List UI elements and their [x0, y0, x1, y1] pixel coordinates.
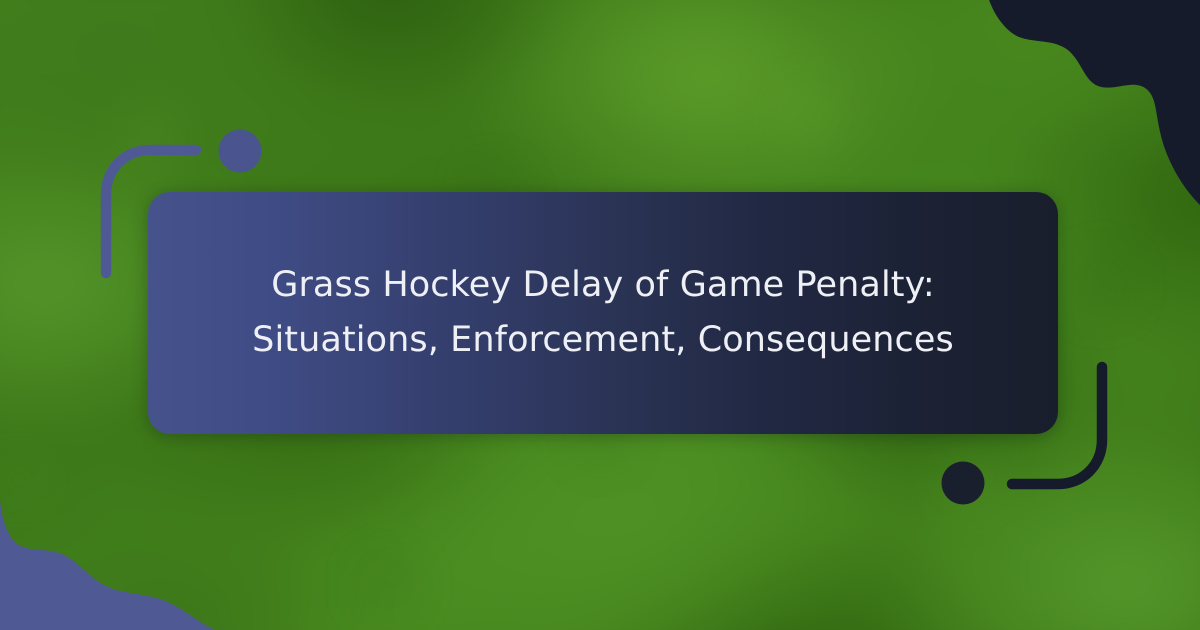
title-line-2: Situations, Enforcement, Consequences — [252, 313, 954, 368]
og-card-canvas: Grass Hockey Delay of Game Penalty: Situ… — [0, 0, 1200, 630]
title-line-1: Grass Hockey Delay of Game Penalty: — [252, 258, 954, 313]
page-title: Grass Hockey Delay of Game Penalty: Situ… — [206, 258, 1000, 369]
title-card: Grass Hockey Delay of Game Penalty: Situ… — [148, 192, 1058, 434]
